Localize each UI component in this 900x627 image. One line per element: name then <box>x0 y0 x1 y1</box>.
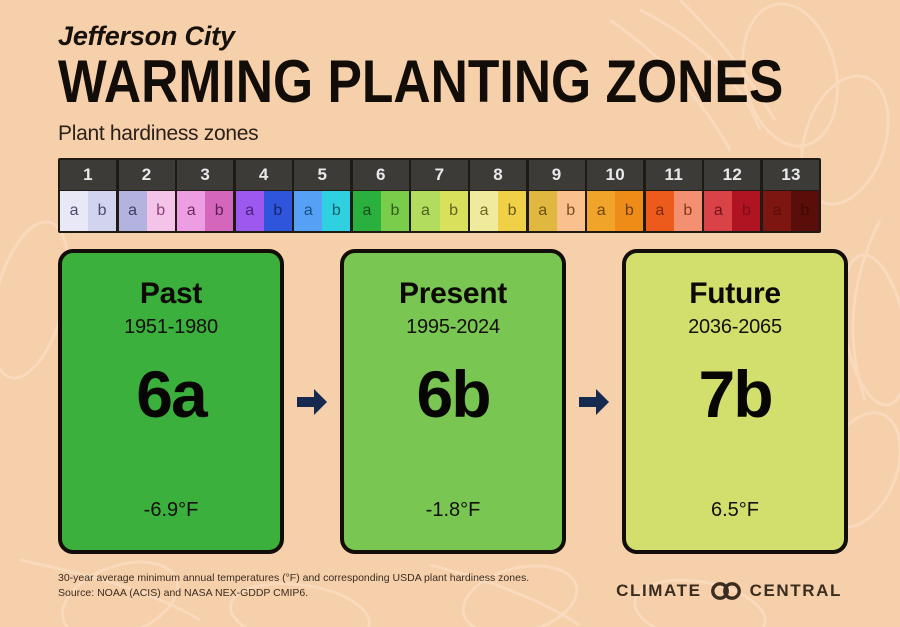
zone-swatch-11b[interactable]: b <box>674 191 702 231</box>
card-year-range: 2036-2065 <box>688 316 782 339</box>
zone-swatch-6a[interactable]: a <box>353 191 381 231</box>
footnote-line-1: 30-year average minimum annual temperatu… <box>58 571 529 586</box>
card-era-label: Future <box>689 277 781 311</box>
zone-swatch-13a[interactable]: a <box>763 191 791 231</box>
zone-swatch-10a[interactable]: a <box>587 191 615 231</box>
page-title: WARMING PLANTING ZONES <box>58 52 732 112</box>
zone-group-8[interactable]: 8ab <box>470 160 526 231</box>
card-year-range: 1951-1980 <box>124 316 218 339</box>
arrow-right-icon <box>566 249 622 554</box>
city-name: Jefferson City <box>58 22 842 50</box>
zone-halves: ab <box>763 190 819 231</box>
zone-group-1[interactable]: 1ab <box>60 160 116 231</box>
card-year-range: 1995-2024 <box>406 316 500 339</box>
zone-halves: ab <box>529 190 585 231</box>
logo-text-right: CENTRAL <box>750 581 842 601</box>
zone-number-label: 11 <box>646 160 702 190</box>
zone-group-12[interactable]: 12ab <box>704 160 760 231</box>
zone-swatch-11a[interactable]: a <box>646 191 674 231</box>
zone-group-4[interactable]: 4ab <box>236 160 292 231</box>
zone-number-label: 1 <box>60 160 116 190</box>
zone-group-6[interactable]: 6ab <box>353 160 409 231</box>
zone-swatch-5b[interactable]: b <box>322 191 350 231</box>
zone-swatch-12a[interactable]: a <box>704 191 732 231</box>
zone-number-label: 3 <box>177 160 233 190</box>
zone-number-label: 8 <box>470 160 526 190</box>
zone-group-2[interactable]: 2ab <box>119 160 175 231</box>
zone-swatch-2a[interactable]: a <box>119 191 147 231</box>
zone-halves: ab <box>411 190 467 231</box>
card-temperature-value: -6.9°F <box>62 499 280 522</box>
subtitle: Plant hardiness zones <box>58 122 842 146</box>
zone-card-present[interactable]: Present1995-20246b-1.8°F <box>340 249 566 554</box>
zone-group-11[interactable]: 11ab <box>646 160 702 231</box>
zone-swatch-4b[interactable]: b <box>264 191 292 231</box>
zone-number-label: 7 <box>411 160 467 190</box>
zone-number-label: 12 <box>704 160 760 190</box>
zone-number-label: 10 <box>587 160 643 190</box>
card-zone-value: 7b <box>698 361 771 427</box>
zone-halves: ab <box>470 190 526 231</box>
zone-group-13[interactable]: 13ab <box>763 160 819 231</box>
zone-halves: ab <box>236 190 292 231</box>
footer: 30-year average minimum annual temperatu… <box>58 571 842 601</box>
zone-swatch-9a[interactable]: a <box>529 191 557 231</box>
zone-group-9[interactable]: 9ab <box>529 160 585 231</box>
zone-card-past[interactable]: Past1951-19806a-6.9°F <box>58 249 284 554</box>
zone-number-label: 5 <box>294 160 350 190</box>
card-era-label: Present <box>399 277 507 311</box>
card-zone-value: 6a <box>136 361 205 427</box>
header-block: Jefferson City WARMING PLANTING ZONES Pl… <box>58 22 842 146</box>
zone-number-label: 6 <box>353 160 409 190</box>
logo-text-left: CLIMATE <box>616 581 701 601</box>
zone-swatch-12b[interactable]: b <box>732 191 760 231</box>
zone-number-label: 4 <box>236 160 292 190</box>
card-temperature-value: -1.8°F <box>344 499 562 522</box>
zone-swatch-1b[interactable]: b <box>88 191 116 231</box>
zone-halves: ab <box>294 190 350 231</box>
zone-swatch-5a[interactable]: a <box>294 191 322 231</box>
zone-swatch-8a[interactable]: a <box>470 191 498 231</box>
zone-swatch-7a[interactable]: a <box>411 191 439 231</box>
zone-swatch-4a[interactable]: a <box>236 191 264 231</box>
zone-card-future[interactable]: Future2036-20657b6.5°F <box>622 249 848 554</box>
zone-number-label: 2 <box>119 160 175 190</box>
card-temperature-value: 6.5°F <box>626 499 844 522</box>
footnote-line-2: Source: NOAA (ACIS) and NASA NEX-GDDP CM… <box>58 586 529 601</box>
zone-halves: ab <box>177 190 233 231</box>
zone-cards-row: Past1951-19806a-6.9°FPresent1995-20246b-… <box>58 249 848 554</box>
zone-halves: ab <box>60 190 116 231</box>
zone-group-5[interactable]: 5ab <box>294 160 350 231</box>
zone-halves: ab <box>587 190 643 231</box>
footnote: 30-year average minimum annual temperatu… <box>58 571 529 601</box>
zone-swatch-8b[interactable]: b <box>498 191 526 231</box>
zone-number-label: 13 <box>763 160 819 190</box>
infographic-root: Jefferson City WARMING PLANTING ZONES Pl… <box>0 0 900 627</box>
card-zone-value: 6b <box>416 361 489 427</box>
zone-halves: ab <box>646 190 702 231</box>
zone-swatch-6b[interactable]: b <box>381 191 409 231</box>
zone-legend-strip: 1ab2ab3ab4ab5ab6ab7ab8ab9ab10ab11ab12ab1… <box>58 158 821 233</box>
zone-swatch-9b[interactable]: b <box>557 191 585 231</box>
zone-swatch-3b[interactable]: b <box>205 191 233 231</box>
zone-swatch-7b[interactable]: b <box>440 191 468 231</box>
zone-swatch-13b[interactable]: b <box>791 191 819 231</box>
zone-group-10[interactable]: 10ab <box>587 160 643 231</box>
zone-swatch-10b[interactable]: b <box>615 191 643 231</box>
zone-swatch-1a[interactable]: a <box>60 191 88 231</box>
card-era-label: Past <box>140 277 202 311</box>
zone-swatch-3a[interactable]: a <box>177 191 205 231</box>
interlocking-rings-icon <box>709 582 743 600</box>
zone-halves: ab <box>119 190 175 231</box>
arrow-right-icon <box>284 249 340 554</box>
zone-group-7[interactable]: 7ab <box>411 160 467 231</box>
zone-number-label: 9 <box>529 160 585 190</box>
zone-halves: ab <box>353 190 409 231</box>
zone-swatch-2b[interactable]: b <box>147 191 175 231</box>
zone-halves: ab <box>704 190 760 231</box>
zone-group-3[interactable]: 3ab <box>177 160 233 231</box>
climate-central-logo: CLIMATE CENTRAL <box>616 581 842 601</box>
